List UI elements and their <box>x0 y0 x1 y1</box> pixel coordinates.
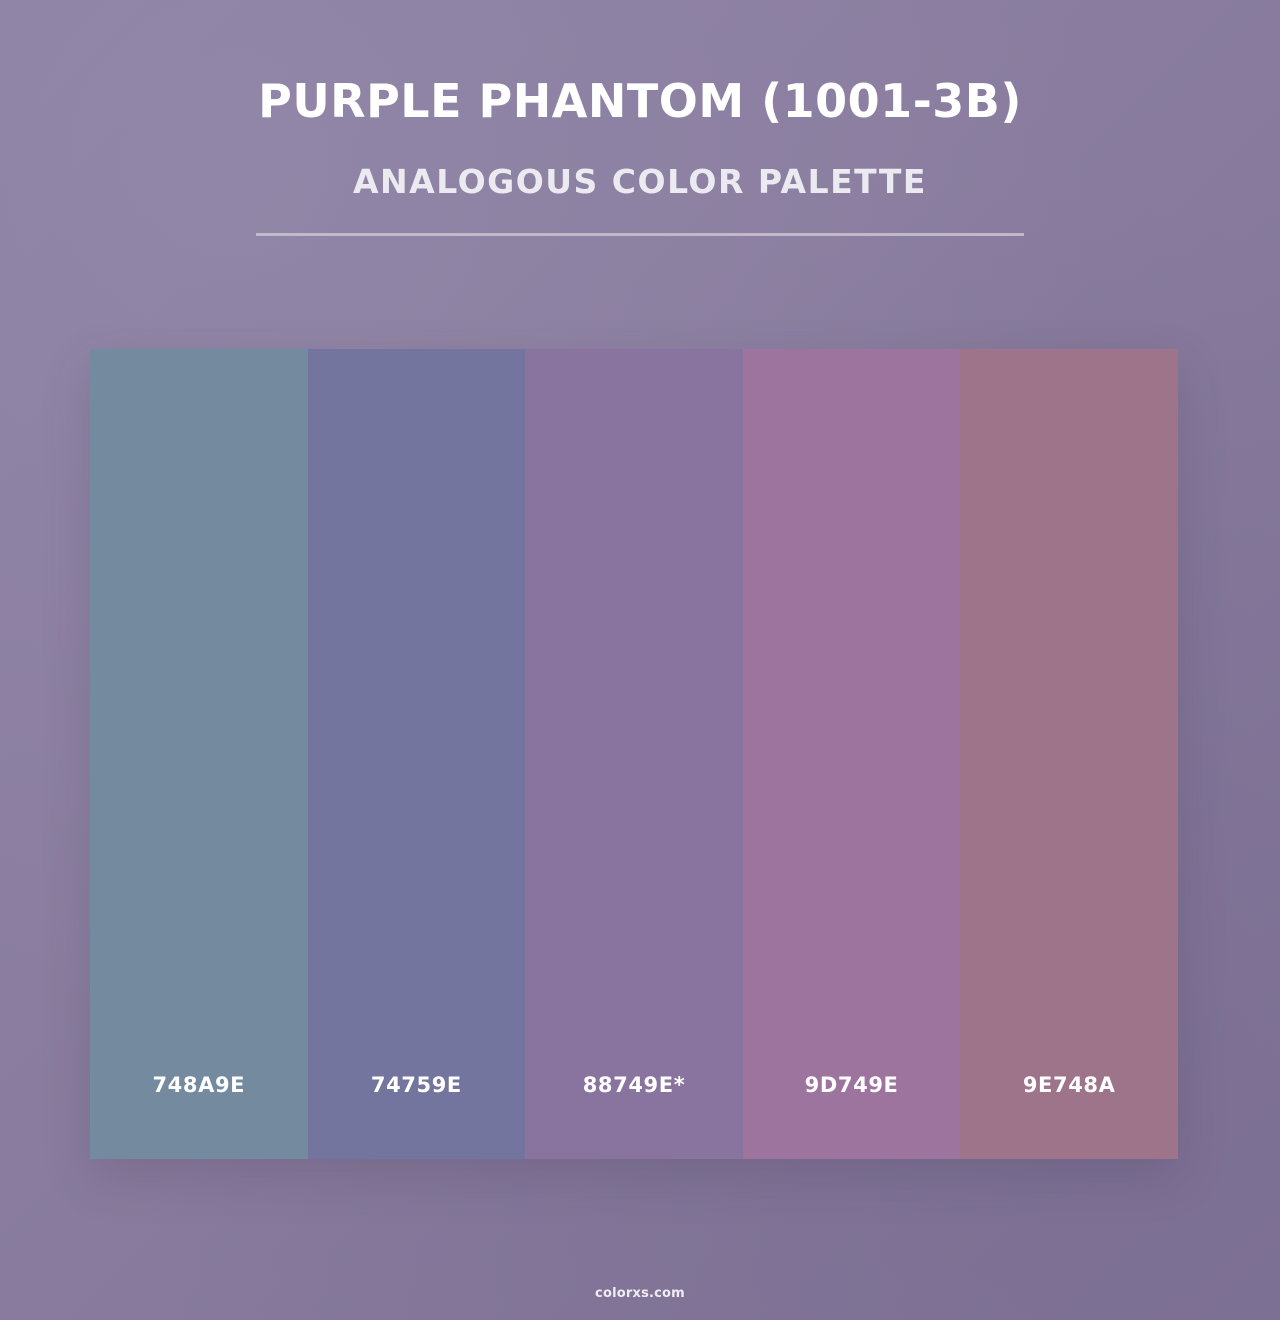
swatch-hex-label: 9D749E <box>743 1011 961 1159</box>
swatch-color-block <box>525 349 743 1011</box>
swatch-hex-label: 88749E* <box>525 1011 743 1159</box>
title-divider <box>256 233 1024 236</box>
swatch-color-block <box>308 349 526 1011</box>
color-swatch[interactable]: 74759E <box>308 349 526 1159</box>
color-swatch[interactable]: 748A9E <box>90 349 308 1159</box>
palette-strip: 748A9E 74759E 88749E* 9D749E 9E748A <box>90 349 1178 1159</box>
swatch-hex-label: 9E748A <box>960 1011 1178 1159</box>
site-credit: colorxs.com <box>0 1286 1280 1301</box>
page-subtitle: ANALOGOUS COLOR PALETTE <box>0 164 1280 200</box>
swatch-hex-label: 748A9E <box>90 1011 308 1159</box>
swatch-color-block <box>960 349 1178 1011</box>
swatch-color-block <box>90 349 308 1011</box>
swatch-hex-label: 74759E <box>308 1011 526 1159</box>
color-palette-page: PURPLE PHANTOM (1001-3B) ANALOGOUS COLOR… <box>0 0 1280 1320</box>
swatch-color-block <box>743 349 961 1011</box>
page-title: PURPLE PHANTOM (1001-3B) <box>0 76 1280 127</box>
color-swatch[interactable]: 88749E* <box>525 349 743 1159</box>
color-swatch[interactable]: 9E748A <box>960 349 1178 1159</box>
color-swatch[interactable]: 9D749E <box>743 349 961 1159</box>
